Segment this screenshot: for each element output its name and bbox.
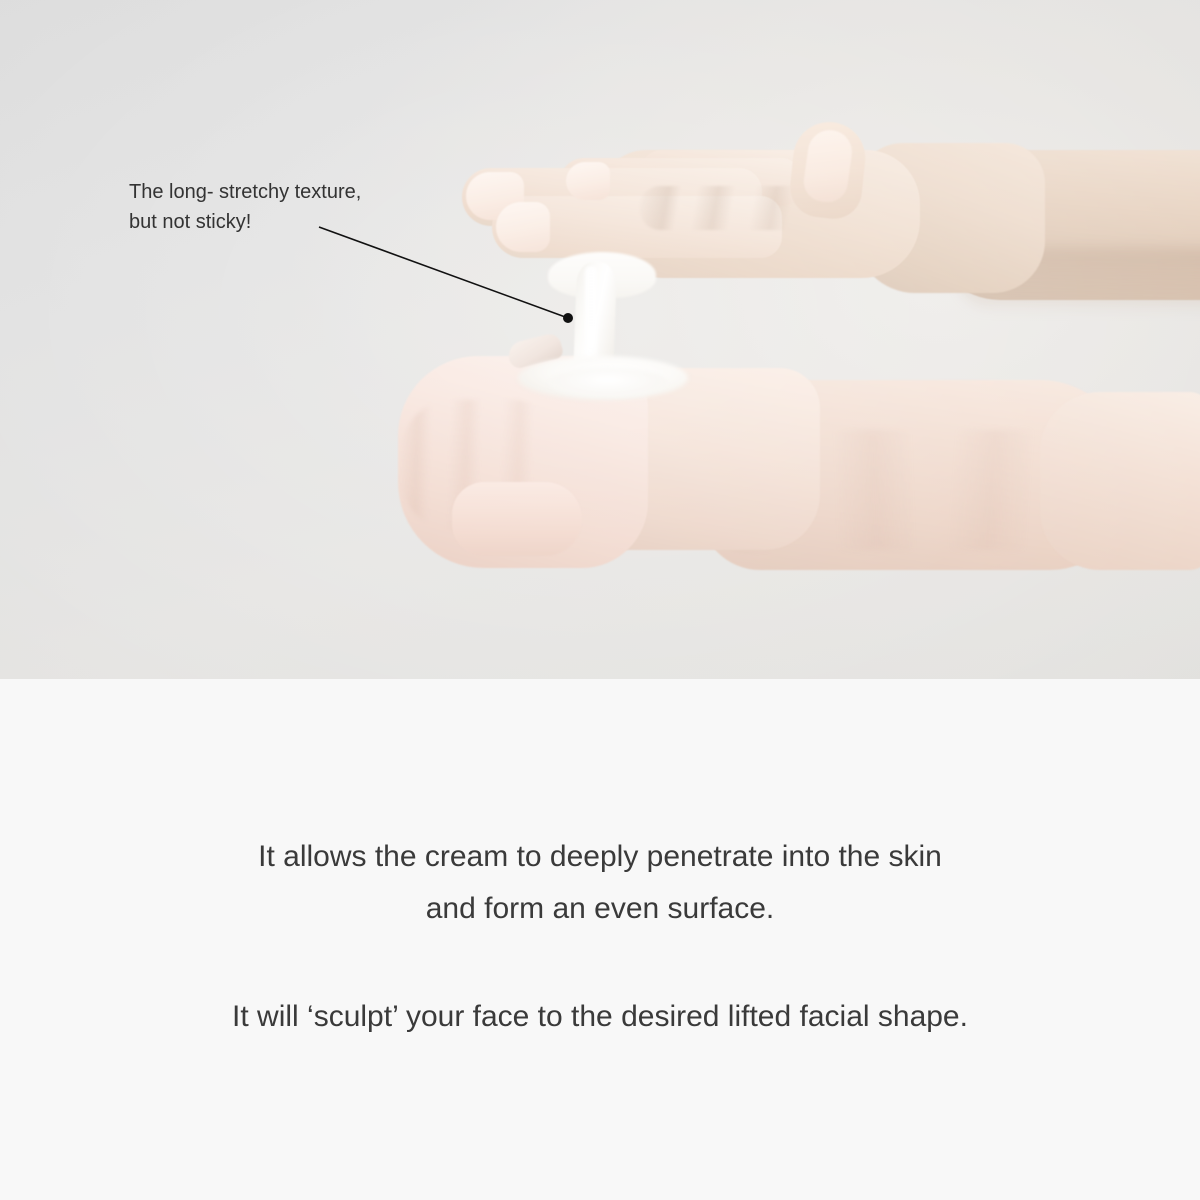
product-texture-photo: The long- stretchy texture, but not stic… <box>0 0 1200 679</box>
lower-hand-thumb <box>452 482 582 556</box>
texture-annotation-label: The long- stretchy texture, but not stic… <box>129 177 459 237</box>
upper-hand-nail-3 <box>566 162 610 200</box>
upper-hand-nail-2 <box>496 202 550 252</box>
cream-lower-pool-highlight <box>548 368 668 398</box>
description-paragraph-2: It will ‘sculpt’ your face to the desire… <box>0 991 1200 1043</box>
description-paragraph-1: It allows the cream to deeply penetrate … <box>0 831 1200 935</box>
product-detail-page: The long- stretchy texture, but not stic… <box>0 0 1200 1200</box>
description-section: It allows the cream to deeply penetrate … <box>0 679 1200 1200</box>
leader-line-endpoint-dot <box>563 313 573 323</box>
